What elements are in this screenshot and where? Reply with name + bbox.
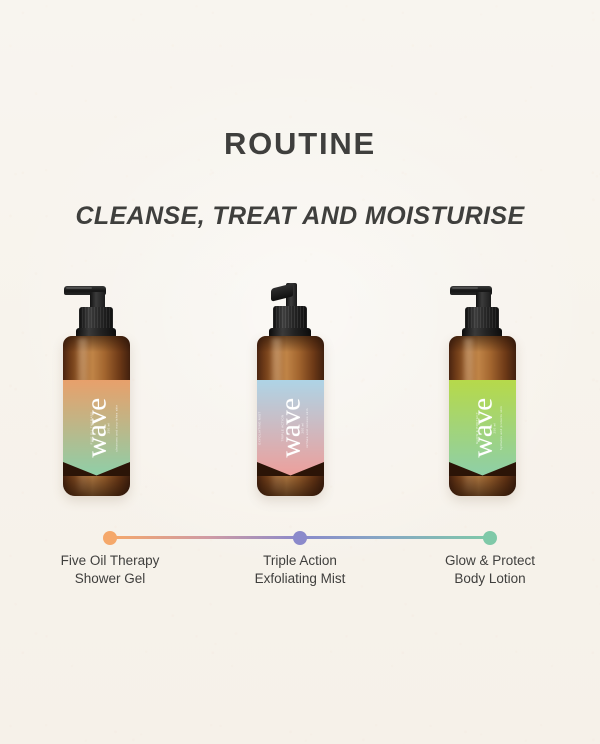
bottle-body: BODY LOTION GLOW & PROTECT hydrates and … xyxy=(449,336,516,496)
label-chevron-notch xyxy=(257,462,324,476)
label-microcopy-right: hydrates and protects skin xyxy=(499,406,503,450)
brand-wordmark: wave xyxy=(82,398,111,457)
product-label: SHOWER GEL FIVE OIL THERAPY cleanses and… xyxy=(63,380,130,476)
caption-line-2: Exfoliating Mist xyxy=(210,570,390,588)
product-item-shower-gel[interactable]: SHOWER GEL FIVE OIL THERAPY cleanses and… xyxy=(46,280,166,510)
label-microcopy-left: EXFOLIATING MIST xyxy=(258,411,262,444)
product-item-body-lotion[interactable]: BODY LOTION GLOW & PROTECT hydrates and … xyxy=(432,280,552,510)
caption-step-2: Triple Action Exfoliating Mist xyxy=(210,552,390,588)
timeline-captions: Five Oil Therapy Shower Gel Triple Actio… xyxy=(0,552,600,602)
bottle-body: EXFOLIATING MIST TRIPLE ACTION refines a… xyxy=(257,336,324,496)
spray-nozzle-icon xyxy=(240,280,360,342)
product-row: SHOWER GEL FIVE OIL THERAPY cleanses and… xyxy=(0,280,600,510)
caption-step-3: Glow & Protect Body Lotion xyxy=(400,552,580,588)
caption-line-1: Triple Action xyxy=(263,553,337,568)
pump-dispenser-icon xyxy=(46,280,166,342)
pump-dispenser-icon xyxy=(432,280,552,342)
caption-line-1: Glow & Protect xyxy=(445,553,535,568)
bottle-shoulder xyxy=(449,336,516,352)
page-subtitle: CLEANSE, TREAT AND MOISTURISE xyxy=(0,162,600,231)
product-item-exfoliating-mist[interactable]: EXFOLIATING MIST TRIPLE ACTION refines a… xyxy=(240,280,360,510)
caption-line-2: Body Lotion xyxy=(400,570,580,588)
heading-block: ROUTINE CLEANSE, TREAT AND MOISTURISE xyxy=(0,126,600,231)
product-label: BODY LOTION GLOW & PROTECT hydrates and … xyxy=(449,380,516,476)
bottle-body: SHOWER GEL FIVE OIL THERAPY cleanses and… xyxy=(63,336,130,496)
caption-line-1: Five Oil Therapy xyxy=(61,553,160,568)
label-chevron-notch xyxy=(449,462,516,476)
timeline-dot-step-3[interactable] xyxy=(483,531,497,545)
bottle-exfoliating-mist: EXFOLIATING MIST TRIPLE ACTION refines a… xyxy=(240,280,360,510)
timeline-dot-step-2[interactable] xyxy=(293,531,307,545)
label-chevron-notch xyxy=(63,462,130,476)
brand-wordmark: wave xyxy=(468,398,497,457)
routine-timeline xyxy=(0,531,600,545)
caption-line-2: Shower Gel xyxy=(20,570,200,588)
timeline-dot-step-1[interactable] xyxy=(103,531,117,545)
bottle-shower-gel: SHOWER GEL FIVE OIL THERAPY cleanses and… xyxy=(46,280,166,510)
bottle-shoulder xyxy=(257,336,324,352)
bottle-shoulder xyxy=(63,336,130,352)
product-label: EXFOLIATING MIST TRIPLE ACTION refines a… xyxy=(257,380,324,476)
page-title: ROUTINE xyxy=(0,126,600,162)
brand-wordmark: wave xyxy=(276,398,305,457)
bottle-body-lotion: BODY LOTION GLOW & PROTECT hydrates and … xyxy=(432,280,552,510)
caption-step-1: Five Oil Therapy Shower Gel xyxy=(20,552,200,588)
label-microcopy-right: cleanses and nourishes skin xyxy=(115,404,119,451)
